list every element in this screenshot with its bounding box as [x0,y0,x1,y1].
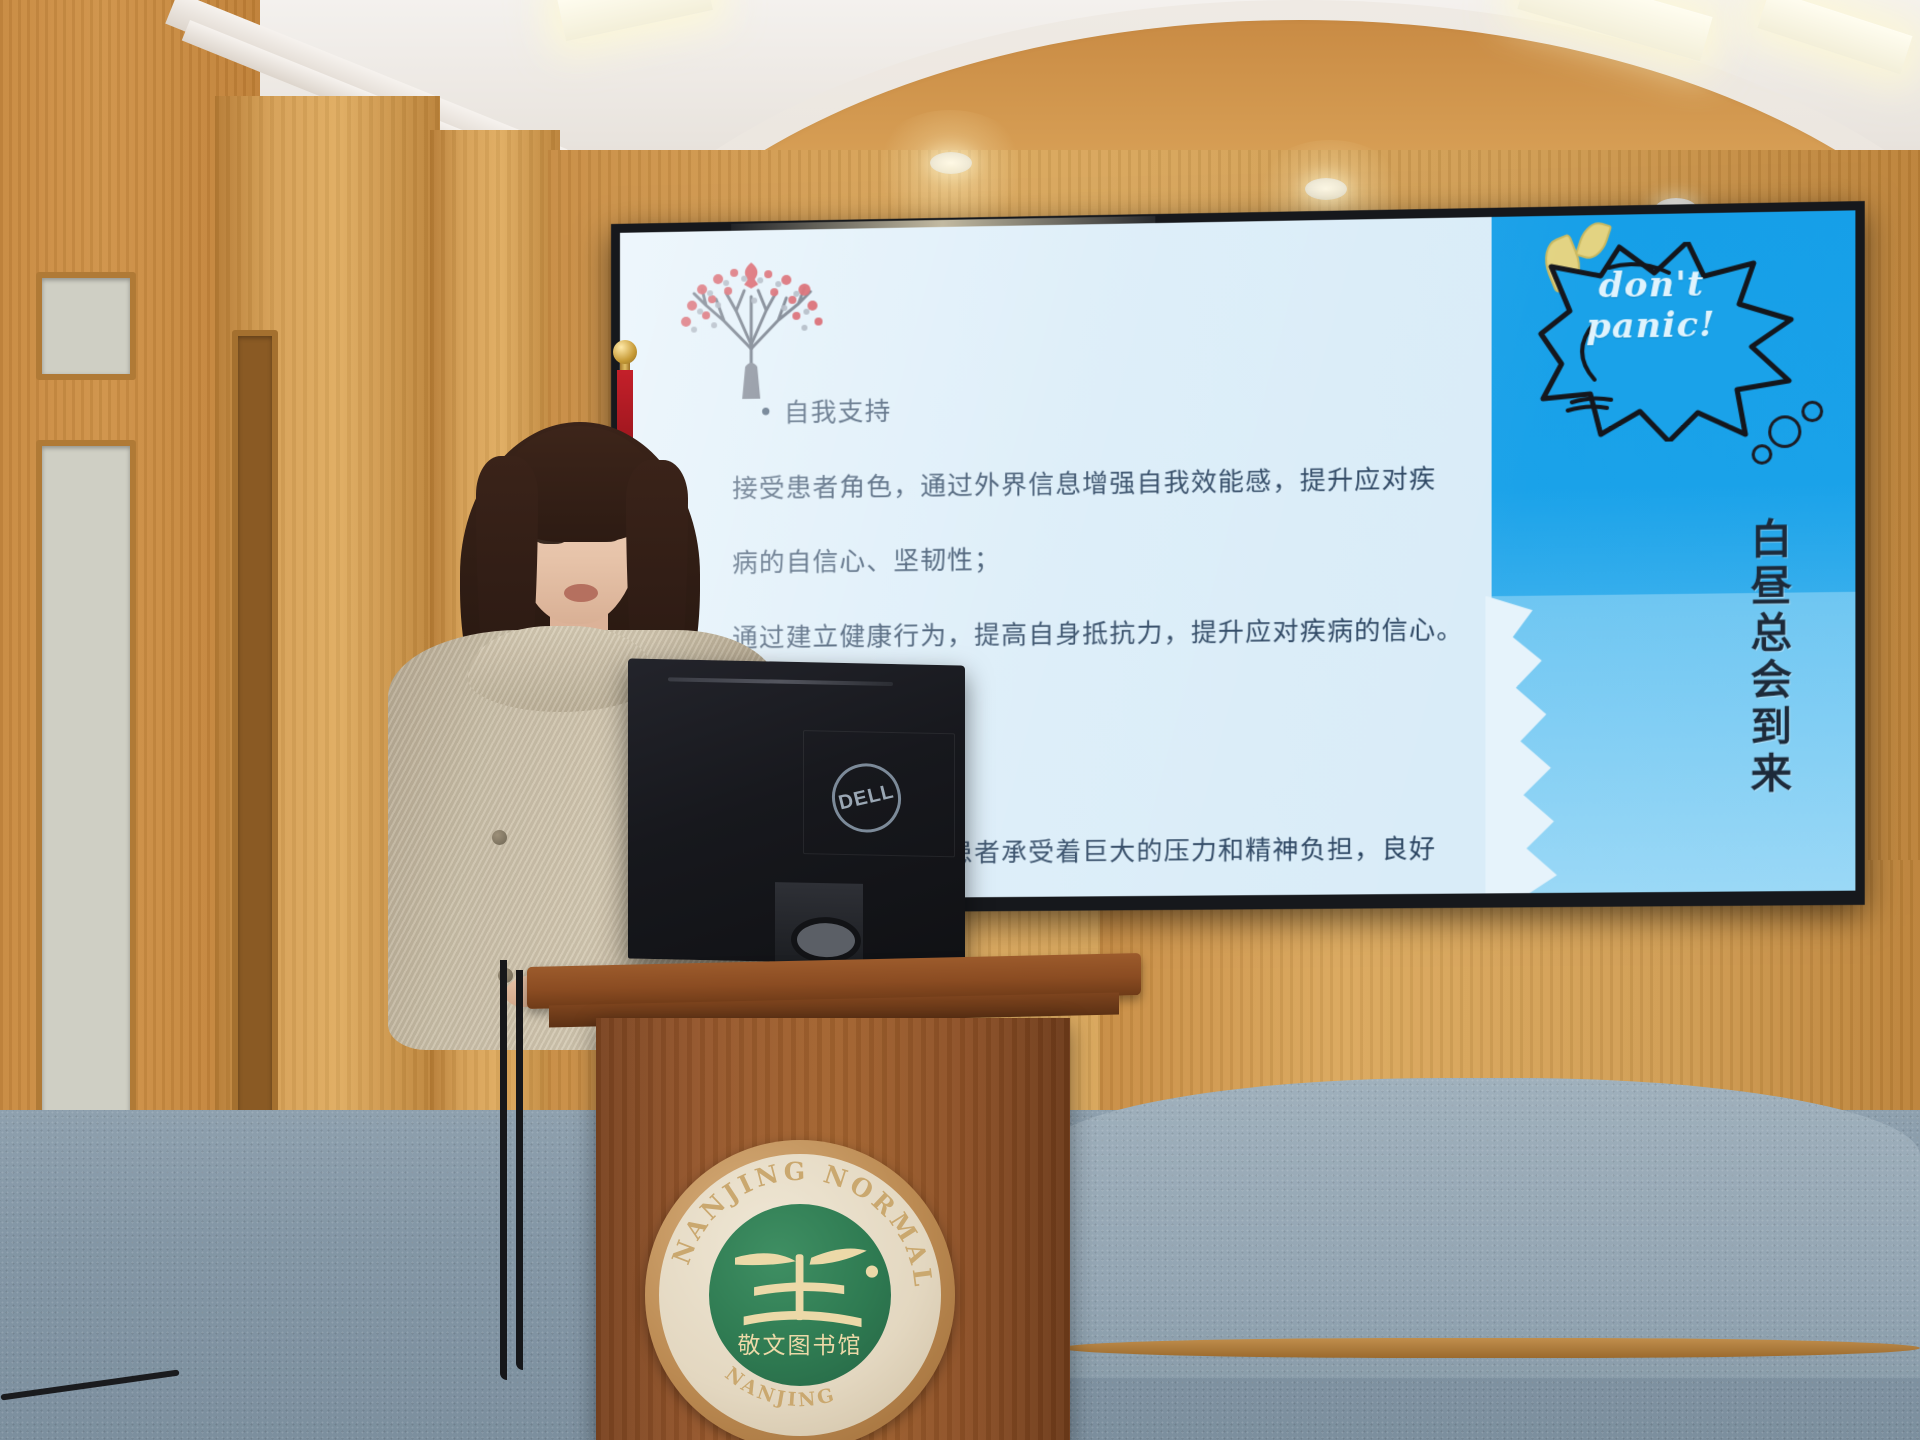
presenter-mouth [564,584,598,602]
seal-chinese-name: 敬文图书馆 [738,1326,863,1360]
panic-line-1: don't [1599,263,1775,307]
monitor-vent [668,677,893,686]
lecture-hall-photo: don't panic! 白昼总会到来 [0,0,1920,1440]
seal-green-disc: 敬文图书馆 [709,1204,891,1386]
flag-pole-finial [613,340,637,364]
bullet-line: 病的自信心、坚韧性； [732,535,1504,582]
raised-stage-platform [1040,1078,1920,1378]
bullet-line: 接受患者角色，通过外界信息增强自我效能感，提升应对疾 [732,460,1504,508]
bullet-heading-self-support: • 自我支持 [758,384,1504,433]
downlight-2 [1305,178,1347,200]
coat-button-1 [492,830,507,845]
panic-line-2: panic! [1586,304,1774,348]
slide-blue-panel-lower [1492,591,1856,893]
stage-edge-trim [1060,1338,1920,1358]
seal-ring: NANJING NORMAL UNIVERSITY NANJING [659,1154,941,1436]
university-seal: NANJING NORMAL UNIVERSITY NANJING [645,1140,955,1440]
monitor-stand-cable-hole [791,916,861,963]
monitor-cable [500,960,507,1380]
door-window-lower [36,440,136,1132]
bubble-decor-2 [1801,401,1823,423]
monitor-cable-2 [516,970,523,1370]
door-window-upper [36,272,136,380]
slide-vertical-caption: 白昼总会到来 [1737,517,1797,799]
presenter-coat-collar [468,626,654,712]
downlight-1 [930,152,972,174]
monitor-stand [775,882,863,964]
bubble-decor-3 [1752,444,1773,465]
bullet-line: 通过建立健康行为，提高自身抵抗力，提升应对疾病的信心。 [732,611,1504,658]
dont-panic-text: don't panic! [1599,263,1775,348]
slide-blue-panel: don't panic! 白昼总会到来 [1492,210,1856,893]
doorway-recess [232,330,278,1142]
